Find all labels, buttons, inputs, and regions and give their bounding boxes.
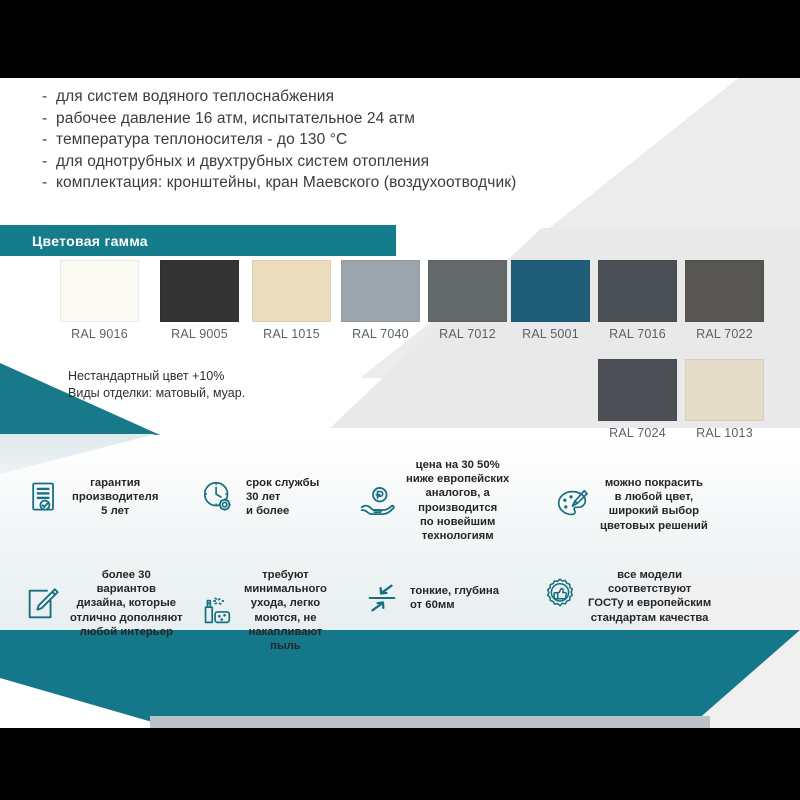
- swatch-chip: [511, 260, 590, 322]
- swatch-ral-7022[interactable]: RAL 7022: [685, 260, 764, 341]
- color-section-title: Цветовая гамма: [0, 233, 148, 249]
- swatch-label: RAL 9005: [160, 327, 239, 341]
- swatch-ral-7012[interactable]: RAL 7012: [428, 260, 507, 341]
- benefit-warranty: гарантия производителя 5 лет: [24, 476, 194, 519]
- certificate-icon: [24, 477, 64, 517]
- clock-gear-icon: [198, 477, 238, 517]
- pencil-design-icon: [22, 584, 62, 624]
- swatch-ral-9016[interactable]: RAL 9016: [60, 260, 139, 341]
- swatch-label: RAL 7022: [685, 327, 764, 341]
- spec-item: -комплектация: кронштейны, кран Маевског…: [42, 172, 516, 194]
- swatch-label: RAL 7016: [598, 327, 677, 341]
- spec-text: температура теплоносителя - до 130 °C: [56, 131, 347, 148]
- swatch-label: RAL 7024: [598, 426, 677, 440]
- quality-seal-thumb-icon: [540, 576, 580, 616]
- spec-text: для однотрубных и двухтрубных систем ото…: [56, 153, 429, 170]
- spec-item: -для систем водяного теплоснабжения: [42, 86, 516, 108]
- benefit-designs: более 30 вариантов дизайна, которые отли…: [22, 568, 198, 639]
- swatch-ral-7024[interactable]: RAL 7024: [598, 359, 677, 440]
- swatch-label: RAL 7012: [428, 327, 507, 341]
- swatch-label: RAL 7040: [341, 327, 420, 341]
- benefit-text: можно покрасить в любой цвет, широкий вы…: [600, 476, 708, 533]
- specs-list: -для систем водяного теплоснабжения -раб…: [42, 86, 516, 194]
- swatch-label: RAL 9016: [60, 327, 139, 341]
- spec-dash: -: [42, 86, 56, 108]
- benefit-text: более 30 вариантов дизайна, которые отли…: [70, 568, 183, 639]
- swatch-label: RAL 1015: [252, 327, 331, 341]
- swatch-chip: [341, 260, 420, 322]
- swatch-ral-1013[interactable]: RAL 1013: [685, 359, 764, 440]
- slide-canvas: -для систем водяного теплоснабжения -раб…: [0, 0, 800, 800]
- benefit-text: срок службы 30 лет и более: [246, 476, 319, 519]
- spec-item: -температура теплоносителя - до 130 °C: [42, 129, 516, 151]
- benefit-text: тонкие, глубина от 60мм: [410, 584, 499, 612]
- benefit-text: требуют минимального ухода, легко моются…: [244, 568, 327, 653]
- slide-content-area: -для систем водяного теплоснабжения -раб…: [0, 78, 800, 728]
- benefit-text: цена на 30 50% ниже европейских аналогов…: [406, 458, 509, 543]
- swatch-ral-9005[interactable]: RAL 9005: [160, 260, 239, 341]
- color-note-line-2: Виды отделки: матовый, муар.: [68, 385, 245, 402]
- spec-item: -рабочее давление 16 атм, испытательное …: [42, 108, 516, 130]
- swatch-label: RAL 1013: [685, 426, 764, 440]
- swatch-ral-5001[interactable]: RAL 5001: [511, 260, 590, 341]
- benefit-standards: все модели соответствуют ГОСТу и европей…: [540, 568, 762, 625]
- swatch-chip: [252, 260, 331, 322]
- benefit-text: гарантия производителя 5 лет: [72, 476, 158, 519]
- benefit-text: все модели соответствуют ГОСТу и европей…: [588, 568, 711, 625]
- color-note-line-1: Нестандартный цвет +10%: [68, 368, 245, 385]
- spec-dash: -: [42, 129, 56, 151]
- benefit-slim-depth: тонкие, глубина от 60мм: [362, 578, 542, 618]
- color-note: Нестандартный цвет +10% Виды отделки: ма…: [68, 368, 245, 402]
- spec-text: комплектация: кронштейны, кран Маевского…: [56, 174, 516, 191]
- swatch-chip: [598, 359, 677, 421]
- swatch-chip: [428, 260, 507, 322]
- spec-text: для систем водяного теплоснабжения: [56, 88, 334, 105]
- benefit-paintable: можно покрасить в любой цвет, широкий вы…: [552, 476, 752, 533]
- spec-dash: -: [42, 172, 56, 194]
- spec-dash: -: [42, 108, 56, 130]
- spec-text: рабочее давление 16 атм, испытательное 2…: [56, 110, 415, 127]
- swatch-chip: [160, 260, 239, 322]
- benefit-easy-care: требуют минимального ухода, легко моются…: [196, 568, 362, 653]
- swatch-chip: [60, 260, 139, 322]
- spray-sponge-icon: [196, 591, 236, 631]
- benefit-service-life: срок службы 30 лет и более: [198, 476, 368, 519]
- benefit-price: цена на 30 50% ниже европейских аналогов…: [358, 458, 548, 543]
- swatch-chip: [685, 260, 764, 322]
- color-section-header: Цветовая гамма: [0, 225, 396, 256]
- swatch-chip: [685, 359, 764, 421]
- swatch-ral-7040[interactable]: RAL 7040: [341, 260, 420, 341]
- swatch-label: RAL 5001: [511, 327, 590, 341]
- hand-ruble-icon: [358, 481, 398, 521]
- compress-arrows-icon: [362, 578, 402, 618]
- palette-brush-icon: [552, 484, 592, 524]
- swatch-ral-7016[interactable]: RAL 7016: [598, 260, 677, 341]
- swatch-ral-1015[interactable]: RAL 1015: [252, 260, 331, 341]
- swatch-chip: [598, 260, 677, 322]
- spec-item: -для однотрубных и двухтрубных систем от…: [42, 151, 516, 173]
- spec-dash: -: [42, 151, 56, 173]
